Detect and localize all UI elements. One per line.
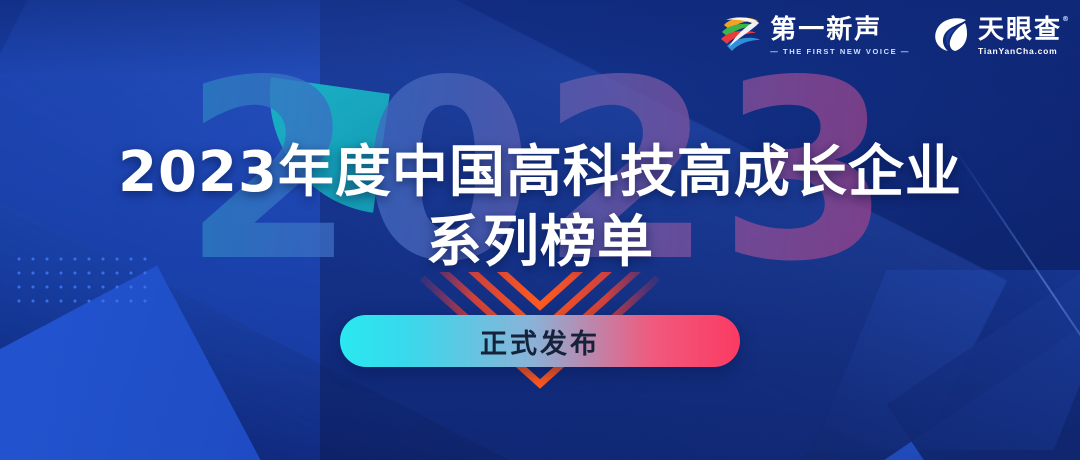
logo-diyixinsheng-name: 第一新声: [770, 17, 910, 44]
trademark-symbol: ®: [1062, 16, 1071, 23]
promo-banner: 2023 2023年度中国高科技高成长企业 系列榜单: [0, 0, 1080, 460]
logo-diyixinsheng-text: 第一新声 — THE FIRST NEW VOICE —: [770, 17, 910, 55]
eye-lens-icon: [932, 15, 970, 58]
logo-tianyancha-tagline: TianYanCha.com: [978, 46, 1062, 56]
headline-line-2: 系列榜单: [0, 208, 1080, 278]
logo-tianyancha-text: 天眼查 ® TianYanCha.com: [978, 17, 1062, 56]
release-cta-label: 正式发布: [480, 322, 600, 361]
logo-tianyancha[interactable]: 天眼查 ® TianYanCha.com: [932, 15, 1062, 58]
logo-tianyancha-name-text: 天眼查: [978, 15, 1062, 45]
page-title: 2023年度中国高科技高成长企业 系列榜单: [0, 138, 1080, 278]
logo-tianyancha-name: 天眼查 ®: [978, 17, 1062, 44]
headline-line-1: 2023年度中国高科技高成长企业: [118, 140, 962, 205]
logo-bar: 第一新声 — THE FIRST NEW VOICE — 天眼查 ® TianY…: [718, 14, 1062, 59]
logo-diyixinsheng[interactable]: 第一新声 — THE FIRST NEW VOICE —: [718, 14, 910, 59]
release-cta-button[interactable]: 正式发布: [340, 315, 740, 367]
swoosh-ribbon-icon: [718, 14, 762, 59]
logo-diyixinsheng-tagline: — THE FIRST NEW VOICE —: [770, 47, 910, 56]
